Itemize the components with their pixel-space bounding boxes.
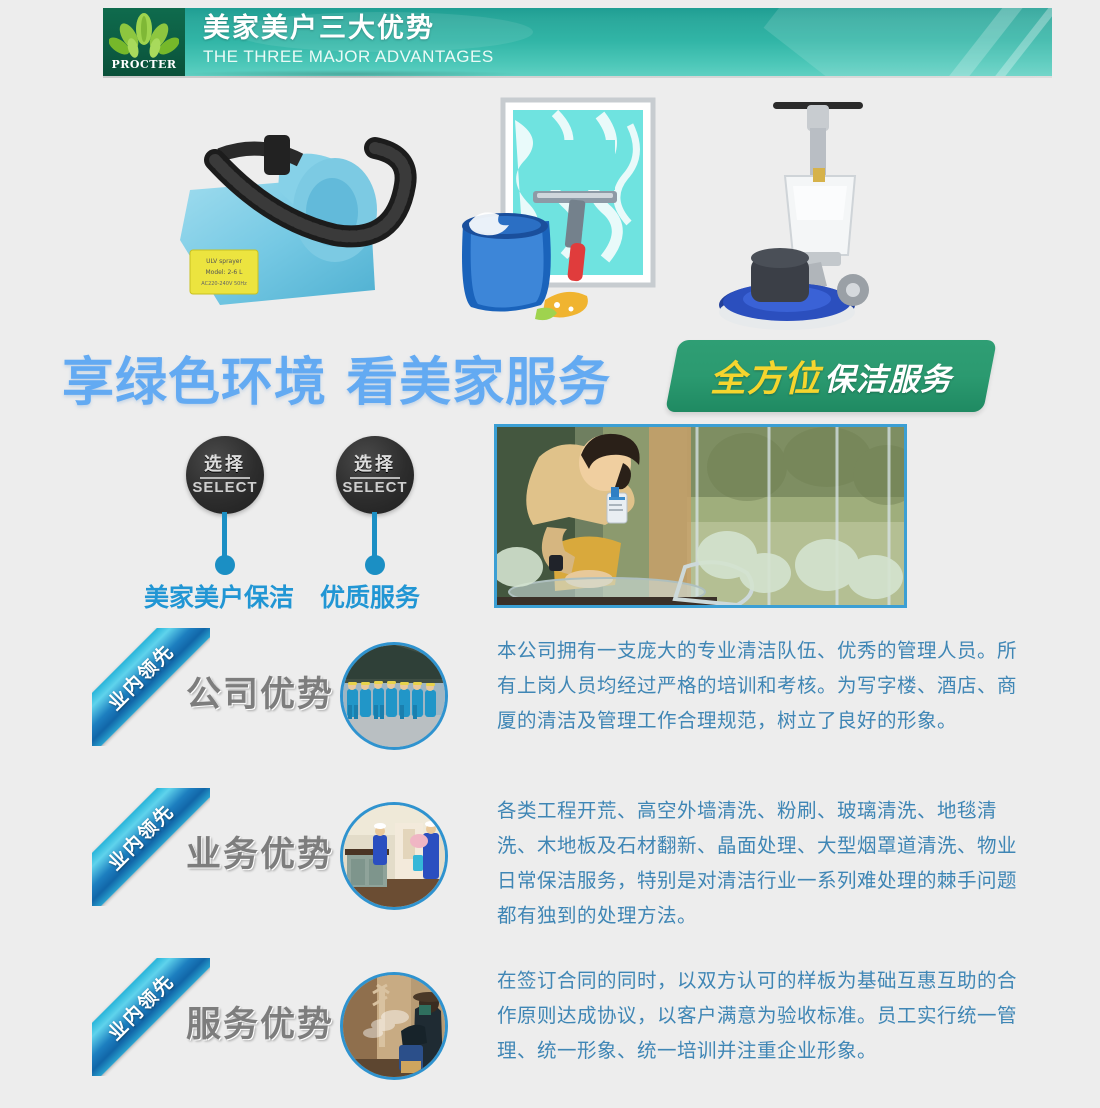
product-image-ulv-sprayer: ULV sprayer Model: 2-6 L AC220-240V 50Hz	[160, 100, 430, 330]
header-banner: PROCTER 美家美户三大优势 THE THREE MAJOR ADVANTA…	[103, 8, 1052, 76]
page-headline: 享绿色环境 看美家服务	[62, 340, 611, 415]
hero-photo-illustration	[497, 427, 904, 605]
advantage-2-title: 业务优势	[186, 826, 334, 877]
select-badge-1-cn: 选择	[204, 455, 246, 475]
svg-text:ULV sprayer: ULV sprayer	[206, 258, 242, 265]
select-badge-1[interactable]: 选择 SELECT	[186, 436, 264, 514]
advantage-1-title: 公司优势	[186, 666, 334, 717]
advantage-2-ribbon-text: 业内领先	[101, 797, 179, 875]
header-drop-shadow	[180, 70, 520, 78]
select-badge-1-en: SELECT	[192, 480, 257, 496]
advantage-1-text: 本公司拥有一支庞大的专业清洁队伍、优秀的管理人员。所有上岗人员均经过严格的培训和…	[497, 633, 1017, 738]
advantage-3-text: 在签订合同的同时，以双方认可的样板为基础互惠互助的合作原则达成协议，以客户满意为…	[497, 963, 1017, 1068]
green-banner-highlight: 全方位	[710, 350, 821, 402]
advantage-3-photo	[340, 972, 448, 1080]
svg-text:AC220-240V 50Hz: AC220-240V 50Hz	[201, 281, 247, 287]
select-badge-2-en: SELECT	[342, 480, 407, 496]
product-image-squeegee-bucket	[445, 95, 685, 335]
header-text-group: 美家美户三大优势 THE THREE MAJOR ADVANTAGES	[203, 13, 494, 68]
badge-1-label: 美家美户保洁	[144, 578, 294, 614]
advantage-3-ribbon-text: 业内领先	[101, 967, 179, 1045]
leaf-crown-logo-icon: PROCTER	[109, 11, 179, 73]
brand-logo-text: PROCTER	[112, 58, 177, 71]
page-header: PROCTER 美家美户三大优势 THE THREE MAJOR ADVANTA…	[103, 8, 1052, 76]
brand-logo: PROCTER	[103, 8, 185, 76]
badge-2-label: 优质服务	[320, 578, 420, 614]
badge-1-pin-dot	[215, 555, 235, 575]
header-title-en: THE THREE MAJOR ADVANTAGES	[203, 46, 494, 68]
product-image-floor-polisher	[715, 90, 925, 335]
green-service-banner: 全方位 保洁服务	[665, 340, 997, 412]
hero-photo	[494, 424, 907, 608]
advantage-2-text: 各类工程开荒、高空外墙清洗、粉刷、玻璃清洗、地毯清洗、木地板及石材翻新、晶面处理…	[497, 793, 1017, 933]
advantage-2-photo	[340, 802, 448, 910]
advantage-1-ribbon-text: 业内领先	[101, 637, 179, 715]
advantage-row-2: 业内领先 业务优势 各类工程开荒、高空外墙清洗、粉刷、玻璃清洗、地毯清洗、木地板	[0, 788, 1100, 938]
header-title-cn: 美家美户三大优势	[203, 13, 494, 45]
advantage-3-title: 服务优势	[186, 996, 334, 1047]
select-badge-2-cn: 选择	[354, 455, 396, 475]
advantage-row-1: 业内领先 公司优势	[0, 628, 1100, 778]
select-badge-2[interactable]: 选择 SELECT	[336, 436, 414, 514]
badge-2-pin-dot	[365, 555, 385, 575]
green-banner-rest: 保洁服务	[824, 354, 952, 399]
advantage-row-3: 业内领先 服务优势 在签订合同的同时，以双方认可的样板为基础	[0, 958, 1100, 1108]
uniformed-team	[347, 688, 436, 717]
svg-text:Model: 2-6 L: Model: 2-6 L	[206, 269, 244, 276]
advantage-1-photo	[340, 642, 448, 750]
